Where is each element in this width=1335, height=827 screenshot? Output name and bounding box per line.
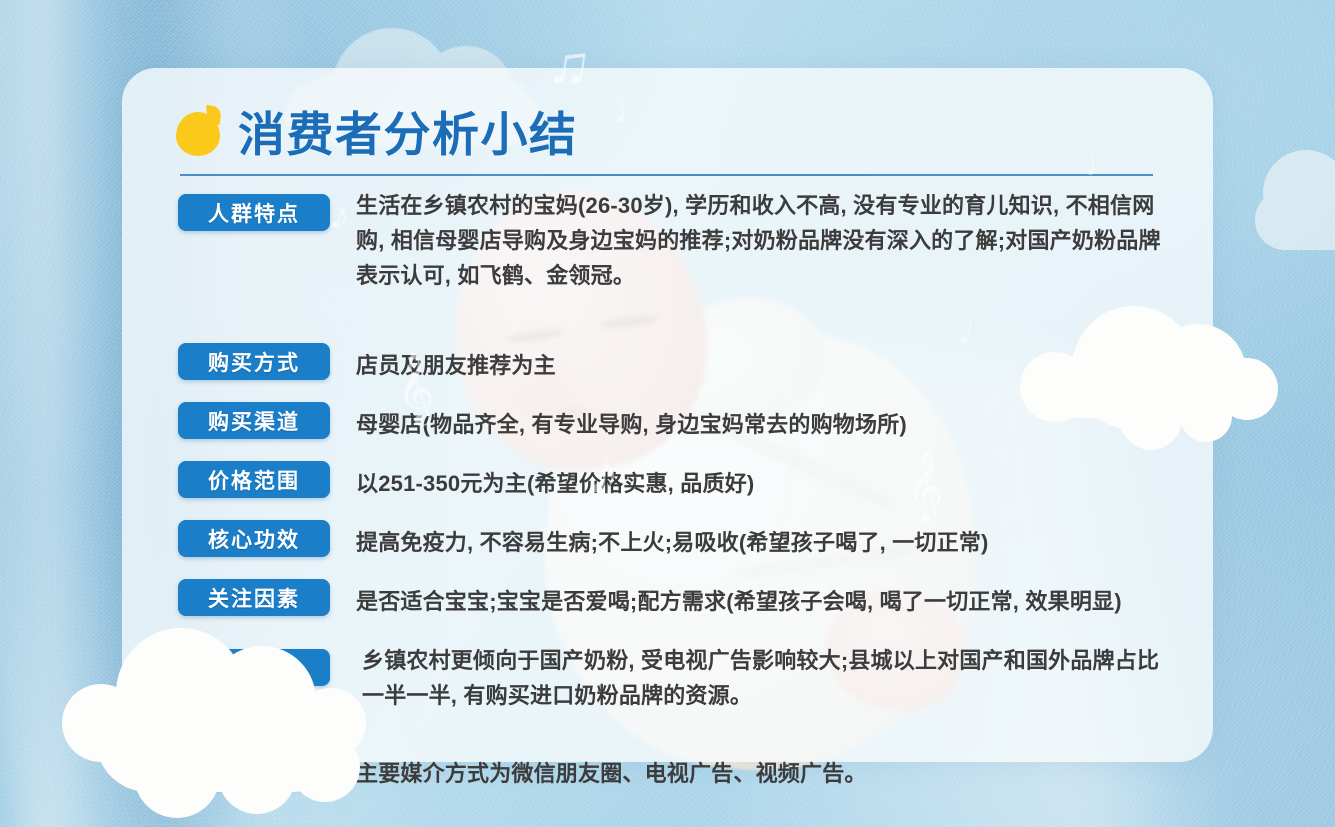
music-note-icon-6: ♩	[955, 307, 1006, 358]
summary-row: 核心功效 提高免疫力, 不容易生病;不上火;易吸收(希望孩子喝了, 一切正常)	[178, 520, 1178, 560]
yellow-dot-icon	[176, 112, 220, 156]
row-body-text: 是否适合宝宝;宝宝是否爱喝;配方需求(希望孩子会喝, 喝了一切正常, 效果明显)	[356, 579, 1178, 619]
music-note-icon-1: ♫	[544, 33, 595, 96]
row-body-text: 生活在乡镇农村的宝妈(26-30岁), 学历和收入不高, 没有专业的育儿知识, …	[356, 188, 1178, 293]
card-header: 消费者分析小结	[176, 96, 578, 165]
row-body-text: 主要媒介方式为微信朋友圈、电视广告、视频广告。	[356, 751, 1178, 791]
row-label-badge-guanzhu-yinsu[interactable]: 关注因素	[178, 579, 330, 616]
row-label-badge-jiage-fanwei[interactable]: 价格范围	[178, 461, 330, 498]
summary-row: 关注因素 是否适合宝宝;宝宝是否爱喝;配方需求(希望孩子会喝, 喝了一切正常, …	[178, 579, 1178, 619]
row-label-badge-renqun-tedian[interactable]: 人群特点	[178, 194, 330, 231]
row-body-text: 以251-350元为主(希望价格实惠, 品质好)	[356, 461, 1178, 501]
row-label-badge-goumai-fangshi[interactable]: 购买方式	[178, 343, 330, 380]
music-note-icon-2: ♩	[610, 86, 654, 130]
row-label-badge-goumai-qudao[interactable]: 购买渠道	[178, 402, 330, 439]
summary-row: 人群特点 生活在乡镇农村的宝妈(26-30岁), 学历和收入不高, 没有专业的育…	[178, 188, 1178, 293]
music-note-icon-4: ♪	[585, 436, 625, 505]
summary-row: 价格范围 以251-350元为主(希望价格实惠, 品质好)	[178, 461, 1178, 501]
row-label-badge-hexin-gongxiao[interactable]: 核心功效	[178, 520, 330, 557]
page-title: 消费者分析小结	[238, 96, 578, 165]
music-note-icon-5: 𝄞	[904, 455, 945, 519]
row-body-text: 提高免疫力, 不容易生病;不上火;易吸收(希望孩子喝了, 一切正常)	[356, 520, 1178, 560]
header-divider	[180, 174, 1153, 176]
music-note-icon-8: ♩	[1078, 136, 1125, 183]
row-body-text: 乡镇农村更倾向于国产奶粉, 受电视广告影响较大;县城以上对国产和国外品牌占比一半…	[362, 643, 1178, 713]
